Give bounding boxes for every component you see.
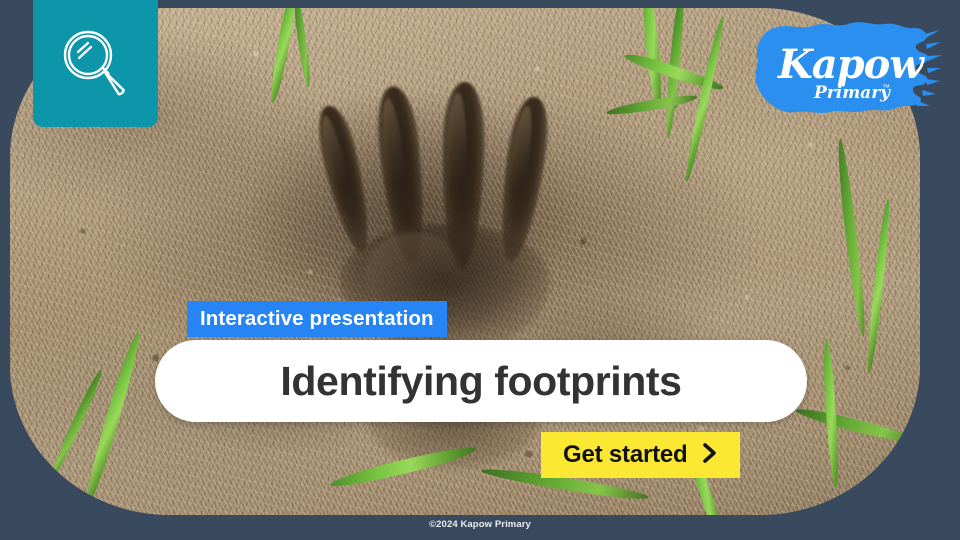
copyright-footer: ©2024 Kapow Primary (0, 519, 960, 530)
get-started-button[interactable]: Get started (541, 432, 740, 478)
interactive-presentation-badge: Interactive presentation (187, 301, 447, 337)
kapow-wordmark: Kapow (777, 41, 925, 88)
magnifying-glass-icon (57, 20, 135, 102)
svg-text:Primary: Primary (813, 83, 891, 103)
kapow-primary-logo: Kapow Primary ™ (744, 16, 942, 128)
get-started-label: Get started (563, 441, 688, 469)
presentation-slide: Kapow Primary ™ Interactive presentation… (0, 0, 960, 540)
page-title: Identifying footprints (280, 358, 681, 405)
chevron-right-icon (701, 441, 718, 470)
svg-text:™: ™ (882, 83, 890, 92)
topic-icon-tile (33, 0, 158, 127)
title-card: Identifying footprints (155, 340, 807, 422)
primary-wordmark: Primary ™ (813, 83, 891, 103)
svg-text:Kapow: Kapow (777, 41, 925, 88)
